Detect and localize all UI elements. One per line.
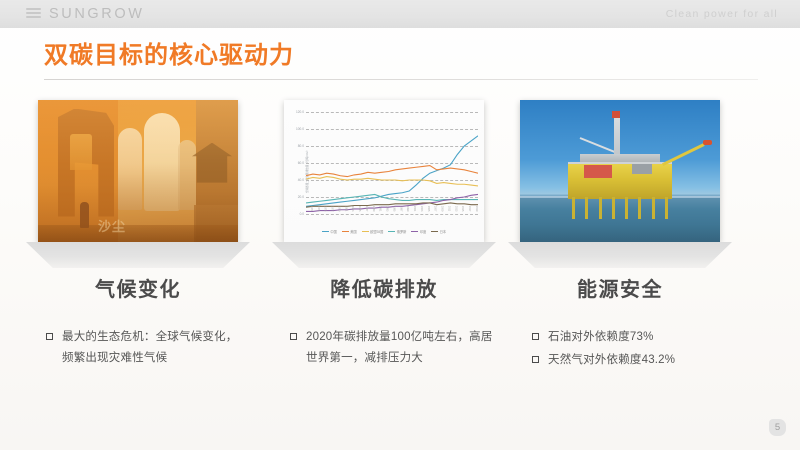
chart-x-tick-label: 1983 [347, 206, 354, 216]
chart-legend-item: 日本 [431, 229, 446, 234]
column-heading-emissions: 降低碳排放 [284, 277, 484, 303]
chart-y-tick-label: 20.0 [284, 195, 304, 199]
chart-series-line [306, 177, 478, 186]
chart-x-tick-label: 2003 [416, 206, 423, 216]
chart-x-tick-label: 2005 [423, 206, 430, 216]
chart-y-tick-label: 120.0 [284, 110, 304, 114]
chart-x-tick-label: 2013 [450, 206, 457, 216]
chart-legend-item: 美国 [342, 229, 357, 234]
chart-y-tick-label: 40.0 [284, 178, 304, 182]
chart-x-tick-label: 2011 [444, 206, 451, 216]
chart-x-tick-label: 1973 [313, 206, 320, 216]
brand-name: SUNGROW [49, 5, 145, 23]
chart-y-tick-label: 60.0 [284, 161, 304, 165]
sungrow-bars-logo-icon [26, 6, 43, 22]
chart-x-tick-label: 1987 [361, 206, 368, 216]
bullet-text: 最大的生态危机：全球气候变化，频繁出现灾难性气候 [62, 331, 238, 364]
bullet-list-climate: 最大的生态危机：全球气候变化，频繁出现灾难性气候 [46, 327, 242, 369]
chart-x-tick-label: 1997 [395, 206, 402, 216]
header-bar: SUNGROW Clean power for all [0, 0, 800, 28]
thumbnail-shadow [272, 242, 496, 268]
list-item: 石油对外依赖度73% [532, 327, 732, 348]
column-heading-energy: 能源安全 [520, 277, 720, 303]
square-bullet-icon [532, 333, 539, 340]
image-sandstorm-city: 沙尘 [38, 100, 238, 242]
list-item: 2020年碳排放量100亿吨左右，高居世界第一，减排压力大 [290, 327, 494, 369]
bullet-list-emissions: 2020年碳排放量100亿吨左右，高居世界第一，减排压力大 [290, 327, 494, 369]
chart-x-tick-label: 1993 [382, 206, 389, 216]
page-number-badge: 5 [769, 419, 786, 436]
column-reduce-emissions: 全球各国二氧化碳排放量（亿吨CO2） 0.020.040.060.080.010… [284, 100, 484, 385]
chart-legend: 中国美国欧盟28国俄罗斯印度日本 [284, 229, 484, 234]
thumbnail-shadow [26, 242, 250, 268]
chart-x-tick-label: 1989 [368, 206, 375, 216]
chart-x-tick-label: 2007 [430, 206, 437, 216]
column-heading-climate: 气候变化 [38, 277, 238, 303]
page-title: 双碳目标的核心驱动力 [44, 40, 294, 72]
chart-x-tick-label: 1981 [340, 206, 347, 216]
chart-x-tick-label: 2015 [457, 206, 464, 216]
brand-logo: SUNGROW [26, 5, 145, 23]
bullet-text: 2020年碳排放量100亿吨左右，高居世界第一，减排压力大 [306, 331, 493, 364]
chart-legend-item: 欧盟28国 [362, 229, 384, 234]
chart-x-tick-label: 2017 [464, 206, 471, 216]
thumbnail-wrap [520, 100, 720, 242]
chart-x-tick-label: 2019 [471, 206, 478, 216]
square-bullet-icon [290, 333, 297, 340]
chart-legend-item: 俄罗斯 [388, 229, 406, 234]
slide: SUNGROW Clean power for all 双碳目标的核心驱动力 [0, 0, 800, 450]
chart-x-tick-label: 1999 [402, 206, 409, 216]
bullet-text: 天然气对外依赖度43.2% [548, 354, 675, 366]
chart-x-tick-label: 1979 [334, 206, 341, 216]
image-emissions-chart: 全球各国二氧化碳排放量（亿吨CO2） 0.020.040.060.080.010… [284, 100, 484, 242]
chart-x-tick-label: 1977 [327, 206, 334, 216]
image-oil-platform [520, 100, 720, 242]
bullet-list-energy: 石油对外依赖度73% 天然气对外依赖度43.2% [532, 327, 732, 371]
chart-y-tick-label: 0.0 [284, 212, 304, 216]
chart-x-tick-label: 2001 [409, 206, 416, 216]
thumbnail-wrap: 全球各国二氧化碳排放量（亿吨CO2） 0.020.040.060.080.010… [284, 100, 484, 242]
chart-x-tick-label: 1971 [306, 206, 313, 216]
chart-x-ticks: 1971197319751977197919811983198519871989… [306, 206, 478, 216]
chart-series-line [306, 166, 478, 177]
chart-x-tick-label: 1985 [354, 206, 361, 216]
chart-x-tick-label: 2009 [437, 206, 444, 216]
column-climate-change: 沙尘 气候变化 最大的生态危机：全球气候变化，频繁出现灾难性气候 [38, 100, 238, 385]
list-item: 天然气对外依赖度43.2% [532, 350, 732, 371]
chart-y-tick-label: 80.0 [284, 144, 304, 148]
square-bullet-icon [46, 333, 53, 340]
chart-x-tick-label: 1995 [389, 206, 396, 216]
square-bullet-icon [532, 356, 539, 363]
brand-tagline: Clean power for all [666, 6, 778, 22]
chart-x-tick-label: 1975 [320, 206, 327, 216]
chart-legend-item: 印度 [411, 229, 426, 234]
thumbnail-wrap: 沙尘 [38, 100, 238, 242]
title-divider [44, 79, 758, 80]
chart-plot-area [306, 112, 478, 214]
bullet-text: 石油对外依赖度73% [548, 331, 654, 343]
chart-x-tick-label: 1991 [375, 206, 382, 216]
column-energy-security: 能源安全 石油对外依赖度73% 天然气对外依赖度43.2% [520, 100, 720, 387]
thumbnail-shadow [508, 242, 732, 268]
chart-y-tick-label: 100.0 [284, 127, 304, 131]
line-chart: 全球各国二氧化碳排放量（亿吨CO2） 0.020.040.060.080.010… [284, 100, 484, 242]
list-item: 最大的生态危机：全球气候变化，频繁出现灾难性气候 [46, 327, 242, 369]
chart-legend-item: 中国 [322, 229, 337, 234]
chart-series-svg [306, 112, 478, 214]
